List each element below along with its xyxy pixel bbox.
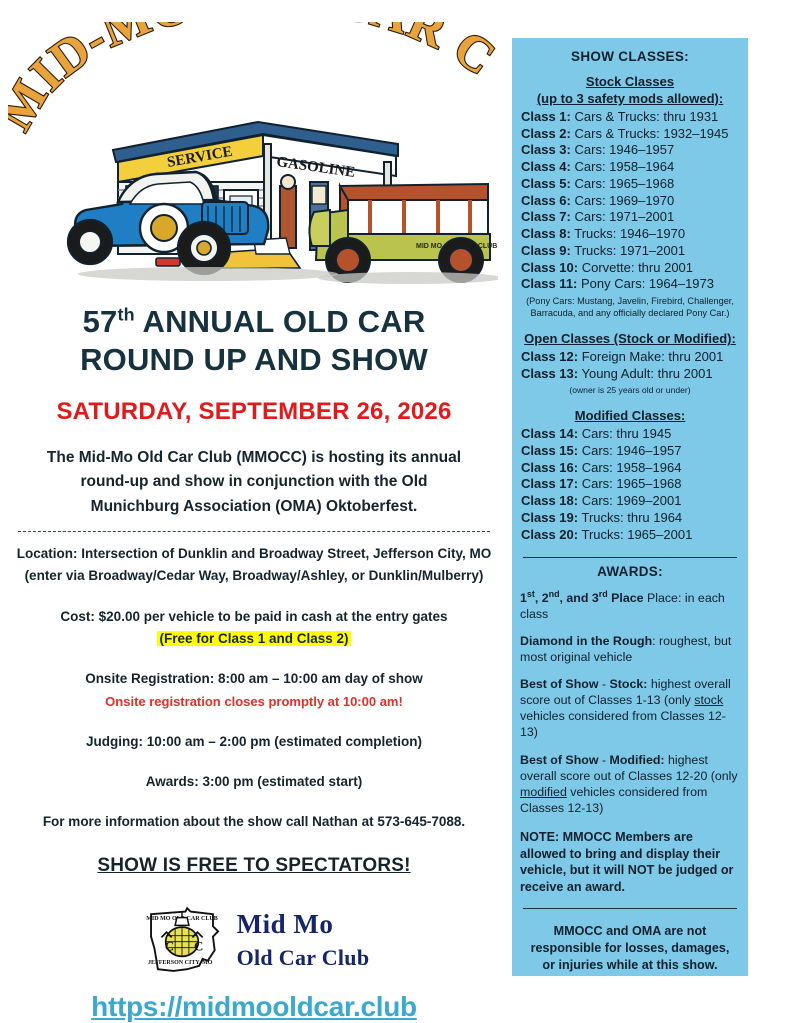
members-note: NOTE: MMOCC Members are allowed to bring…	[519, 829, 741, 895]
class-desc: Foreign Make: thru 2001	[582, 349, 724, 364]
pony-cars-note: (Pony Cars: Mustang, Javelin, Firebird, …	[519, 295, 741, 319]
place-1: 1	[520, 591, 527, 605]
class-desc: Trucks: 1965–2001	[581, 527, 692, 542]
young-adult-note: (owner is 25 years old or under)	[519, 385, 741, 396]
class-number: Class 4:	[521, 159, 571, 174]
bos-mod-sep: -	[598, 753, 609, 767]
left-column: MID-MO OLD CAR CLUB SERVICE GASOLINE	[0, 0, 508, 1020]
title-ordinal: 57	[83, 304, 118, 339]
open-classes-list: Class 12: Foreign Make: thru 2001 Class …	[519, 349, 741, 383]
class-number: Class 1:	[521, 109, 571, 124]
cost-line: Cost: $20.00 per vehicle to be paid in c…	[8, 607, 500, 627]
class-item: Class 10: Corvette: thru 2001	[519, 260, 741, 277]
emblem-right-letter: C	[194, 939, 203, 953]
class-number: Class 12:	[521, 349, 578, 364]
class-desc: Cars: thru 1945	[582, 426, 672, 441]
class-item: Class 2: Cars & Trucks: 1932–1945	[519, 126, 741, 143]
bos-stock-label2: Stock:	[610, 677, 648, 691]
class-desc: Cars: 1958–1964	[582, 460, 682, 475]
panel-divider-disclaimer	[523, 908, 737, 909]
club-website-link[interactable]: https://midmooldcar.club	[8, 991, 500, 1023]
club-logo-line-1: Mid Mo	[237, 909, 370, 941]
place-2: 2	[542, 591, 549, 605]
class-number: Class 13:	[521, 366, 578, 381]
class-item: Class 9: Trucks: 1971–2001	[519, 243, 741, 260]
panel-heading: SHOW CLASSES:	[519, 49, 741, 64]
class-item: Class 11: Pony Cars: 1964–1973	[519, 276, 741, 293]
class-item: Class 1: Cars & Trucks: thru 1931	[519, 109, 741, 126]
class-item: Class 18: Cars: 1969–2001	[519, 493, 741, 510]
class-desc: Cars & Trucks: 1932–1945	[575, 126, 729, 141]
class-desc: Trucks: thru 1964	[581, 510, 682, 525]
class-number: Class 3:	[521, 142, 571, 157]
flyer-page: MID-MO OLD CAR CLUB SERVICE GASOLINE	[0, 0, 788, 1020]
place-2-sup: nd	[549, 588, 560, 598]
emblem-left-letter: C	[164, 939, 173, 953]
class-desc: Corvette: thru 2001	[582, 260, 693, 275]
liability-disclaimer: MMOCC and OMA are not responsible for lo…	[519, 923, 741, 974]
missouri-club-emblem-icon: MID MO OLD CAR CLUB C C JEFFERSON CITY, …	[139, 897, 225, 983]
class-desc: Cars: 1969–1970	[575, 193, 675, 208]
bos-mod-underline: modified	[520, 785, 567, 799]
class-number: Class 15:	[521, 443, 578, 458]
class-desc: Cars: 1971–2001	[575, 209, 675, 224]
award-best-of-show-stock: Best of Show - Stock: highest overall sc…	[519, 676, 741, 741]
class-item: Class 5: Cars: 1965–1968	[519, 176, 741, 193]
class-number: Class 5:	[521, 176, 571, 191]
bos-stock-sep: -	[598, 677, 609, 691]
class-item: Class 4: Cars: 1958–1964	[519, 159, 741, 176]
emblem-bottom-text: JEFFERSON CITY, MO	[148, 960, 213, 966]
judging-line: Judging: 10:00 am – 2:00 pm (estimated c…	[8, 732, 500, 752]
class-desc: Trucks: 1971–2001	[574, 243, 685, 258]
show-classes-panel: SHOW CLASSES: Stock Classes (up to 3 saf…	[512, 38, 748, 976]
award-best-of-show-modified: Best of Show - Modified: highest overall…	[519, 752, 741, 817]
class-number: Class 9:	[521, 243, 571, 258]
stock-classes-heading-line-1: Stock Classes	[519, 74, 741, 91]
location-entry-line: (enter via Broadway/Cedar Way, Broadway/…	[8, 566, 500, 586]
page-title: 57th ANNUAL OLD CAR ROUND UP AND SHOW	[8, 303, 500, 379]
panel-divider-awards	[523, 557, 737, 558]
place-1-sup: st	[527, 588, 535, 598]
class-number: Class 8:	[521, 226, 571, 241]
class-desc: Cars & Trucks: thru 1931	[575, 109, 719, 124]
title-ordinal-suffix: th	[117, 305, 134, 325]
event-date: SATURDAY, SEPTEMBER 26, 2026	[8, 398, 500, 426]
class-item: Class 8: Trucks: 1946–1970	[519, 226, 741, 243]
class-desc: Pony Cars: 1964–1973	[581, 276, 714, 291]
class-item: Class 6: Cars: 1969–1970	[519, 193, 741, 210]
title-line-1-rest: ANNUAL OLD CAR	[135, 304, 426, 339]
stock-classes-heading-line-2: (up to 3 safety mods allowed):	[519, 91, 741, 108]
contact-line: For more information about the show call…	[8, 812, 500, 832]
dashed-divider	[18, 531, 490, 532]
class-desc: Cars: 1946–1957	[582, 443, 682, 458]
class-number: Class 7:	[521, 209, 571, 224]
class-desc: Young Adult: thru 2001	[581, 366, 712, 381]
class-number: Class 2:	[521, 126, 571, 141]
award-places: 1st, 2nd, and 3rd Place Place: in each c…	[519, 590, 741, 622]
awards-heading: AWARDS:	[519, 564, 741, 579]
award-diamond-label: Diamond in the Rough	[520, 634, 652, 648]
open-classes-heading: Open Classes (Stock or Modified):	[519, 331, 741, 348]
award-diamond-in-the-rough: Diamond in the Rough: roughest, but most…	[519, 633, 741, 665]
registration-closes-line: Onsite registration closes promptly at 1…	[8, 692, 500, 712]
class-desc: Trucks: 1946–1970	[574, 226, 685, 241]
bos-mod-label: Best of Show	[520, 753, 598, 767]
cost-free-highlight: (Free for Class 1 and Class 2)	[157, 631, 350, 646]
class-desc: Cars: 1969–2001	[582, 493, 682, 508]
class-desc: Cars: 1965–1968	[582, 476, 682, 491]
hero-illustration: MID-MO OLD CAR CLUB SERVICE GASOLINE	[8, 22, 500, 287]
class-item: Class 3: Cars: 1946–1957	[519, 142, 741, 159]
class-number: Class 19:	[521, 510, 578, 525]
class-number: Class 14:	[521, 426, 578, 441]
class-number: Class 6:	[521, 193, 571, 208]
class-number: Class 11:	[521, 276, 577, 291]
class-item: Class 13: Young Adult: thru 2001	[519, 366, 741, 383]
stock-classes-list: Class 1: Cars & Trucks: thru 1931 Class …	[519, 109, 741, 293]
class-number: Class 18:	[521, 493, 578, 508]
modified-classes-heading: Modified Classes:	[519, 408, 741, 425]
club-logo-block: MID MO OLD CAR CLUB C C JEFFERSON CITY, …	[8, 895, 500, 985]
class-item: Class 20: Trucks: 1965–2001	[519, 527, 741, 544]
place-3: 3	[592, 591, 599, 605]
class-item: Class 15: Cars: 1946–1957	[519, 443, 741, 460]
class-desc: Cars: 1946–1957	[575, 142, 675, 157]
class-number: Class 17:	[521, 476, 578, 491]
place-3-sup: rd	[599, 588, 608, 598]
class-desc: Cars: 1965–1968	[575, 176, 675, 191]
bos-mod-label2: Modified:	[610, 753, 665, 767]
title-line-1: 57th ANNUAL OLD CAR	[8, 303, 500, 341]
class-item: Class 14: Cars: thru 1945	[519, 426, 741, 443]
title-line-2: ROUND UP AND SHOW	[8, 341, 500, 379]
bos-stock-text-2: vehicles considered from Classes 12-13)	[520, 709, 726, 739]
bos-stock-underline: stock	[694, 693, 723, 707]
awards-time-line: Awards: 3:00 pm (estimated start)	[8, 772, 500, 792]
modified-classes-list: Class 14: Cars: thru 1945 Class 15: Cars…	[519, 426, 741, 543]
class-number: Class 10:	[521, 260, 578, 275]
class-number: Class 20:	[521, 527, 578, 542]
bos-stock-label: Best of Show	[520, 677, 598, 691]
location-line: Location: Intersection of Dunklin and Br…	[8, 544, 500, 564]
class-desc: Cars: 1958–1964	[575, 159, 675, 174]
class-item: Class 19: Trucks: thru 1964	[519, 510, 741, 527]
spectators-free-banner: SHOW IS FREE TO SPECTATORS!	[8, 855, 500, 877]
club-logo-wordmark: Mid Mo Old Car Club	[237, 909, 370, 971]
service-station-scene: SERVICE GASOLINE	[18, 82, 498, 287]
cost-free-line: (Free for Class 1 and Class 2)	[8, 629, 500, 649]
class-item: Class 16: Cars: 1958–1964	[519, 460, 741, 477]
registration-line: Onsite Registration: 8:00 am – 10:00 am …	[8, 669, 500, 689]
intro-paragraph: The Mid-Mo Old Car Club (MMOCC) is hosti…	[42, 446, 466, 519]
class-item: Class 12: Foreign Make: thru 2001	[519, 349, 741, 366]
class-number: Class 16:	[521, 460, 578, 475]
stock-classes-heading: Stock Classes (up to 3 safety mods allow…	[519, 74, 741, 108]
club-logo-line-2: Old Car Club	[237, 945, 370, 971]
class-item: Class 7: Cars: 1971–2001	[519, 209, 741, 226]
class-item: Class 17: Cars: 1965–1968	[519, 476, 741, 493]
